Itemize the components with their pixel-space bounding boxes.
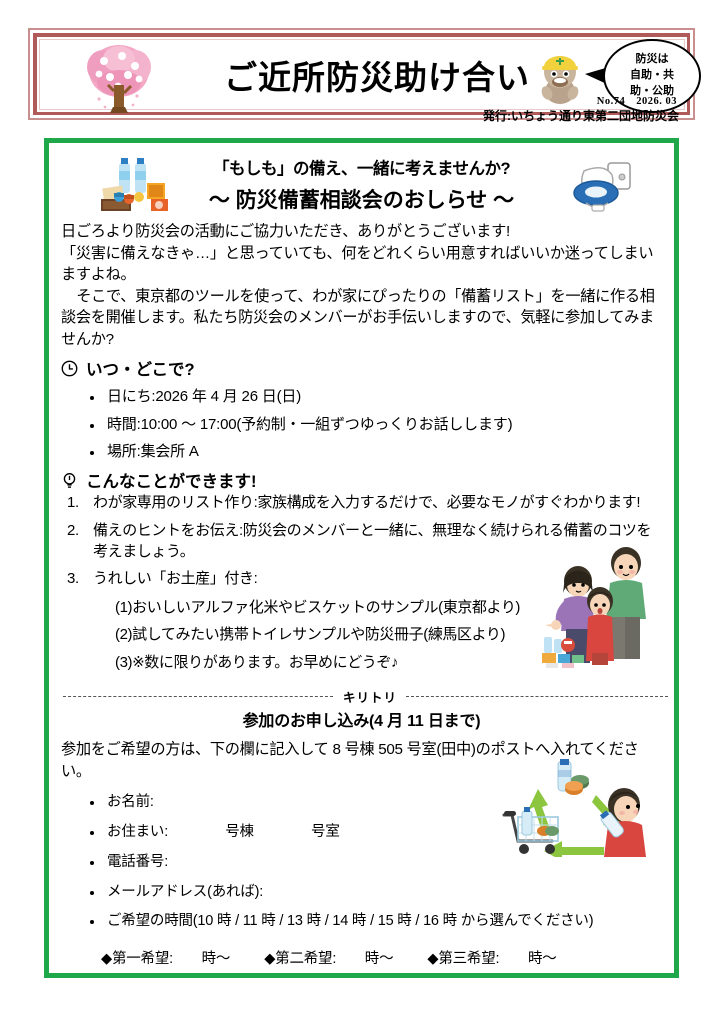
issue-number: No.74 2026. 03 (597, 93, 677, 108)
field-preferred-time[interactable]: ご希望の時間(10 時 / 11 時 / 13 時 / 14 時 / 15 時 … (87, 912, 662, 931)
lightbulb-icon (61, 472, 78, 489)
header-border-inner: ご近所防災助け合い 防災は 自助・共 助・公助 No.74 2026. 03 発… (33, 33, 690, 115)
can-do-heading-label: こんなことができます! (86, 468, 257, 492)
field-email[interactable]: メールアドレス(あれば): (87, 883, 662, 902)
application-title: 参加のお申し込み(4 月 11 日まで) (61, 707, 662, 731)
choice-third[interactable]: ◆第三希望: 時～ (427, 947, 556, 968)
when-where-heading: いつ・どこで? (61, 356, 662, 380)
bubble-line-2: 自助・共 (630, 68, 674, 84)
helmet-mascot-icon (529, 45, 591, 107)
can-do-heading: こんなことができます! (61, 468, 662, 492)
family-with-supplies-icon (542, 541, 660, 669)
cut-line-label: キリトリ (333, 687, 407, 706)
when-where-list: 日にち:2026 年 4 月 26 日(日) 時間:10:00 ～ 17:00(… (87, 387, 662, 462)
intro-paragraph: 日ごろより防災会の活動にご協力いただき、ありがとうございます! 「災害に備えなき… (61, 221, 662, 350)
choice-first[interactable]: ◆第一希望: 時～ (101, 947, 230, 968)
cut-line: キリトリ (61, 688, 662, 704)
intro-line-1: 日ごろより防災会の活動にご協力いただき、ありがとうございます! (61, 221, 662, 243)
headline-block: 「もしも」の備え、一緒に考えませんか? ～ 防災備蓄相談会のおしらせ ～ (61, 151, 662, 217)
item-number: 2. (67, 521, 79, 542)
list-item: 1. わが家専用のリスト作り:家族構成を入力するだけで、必要なモノがすぐわかりま… (67, 493, 662, 514)
when-where-heading-label: いつ・どこで? (86, 356, 195, 380)
time-choice-row: ◆第一希望: 時～ ◆第二希望: 時～ ◆第三希望: 時～ (101, 947, 662, 968)
item-text: わが家専用のリスト作り:家族構成を入力するだけで、必要なモノがすぐわかります! (93, 494, 640, 511)
list-item: 時間:10:00 ～ 17:00(予約制・一組ずつゆっくりお話しします) (87, 415, 662, 435)
bubble-line-1: 防災は (636, 52, 669, 68)
list-item: 日にち:2026 年 4 月 26 日(日) (87, 387, 662, 407)
newsletter-header: ご近所防災助け合い 防災は 自助・共 助・公助 No.74 2026. 03 発… (28, 28, 695, 120)
list-item: 場所:集会所 A (87, 442, 662, 462)
choice-second[interactable]: ◆第二希望: 時～ (264, 947, 393, 968)
page-title: ご近所防災助け合い (187, 51, 567, 99)
main-content-box: 「もしも」の備え、一緒に考えませんか? ～ 防災備蓄相談会のおしらせ ～ 日ごろ… (44, 138, 679, 978)
publisher-name: 発行:いちょう通り東第二団地防災会 (483, 107, 679, 124)
portable-toilet-icon (572, 159, 636, 213)
cut-line-dash-right (406, 696, 668, 697)
item-number: 3. (67, 569, 79, 590)
intro-line-3: そこで、東京都のツールを使って、わが家にぴったりの「備蓄リスト」を一緒に作る相談… (61, 286, 662, 351)
cherry-blossom-tree-icon (77, 41, 161, 121)
item-number: 1. (67, 493, 79, 514)
emergency-food-water-icon (99, 157, 171, 213)
clock-icon (61, 360, 78, 377)
cut-line-dash-left (63, 696, 333, 697)
intro-line-2: 「災害に備えなきゃ…」と思っていても、何をどれくらい用意すればいいか迷ってしまい… (61, 243, 662, 286)
rolling-stock-cycle-icon (500, 759, 650, 857)
item-text: うれしい「お土産」付き: (93, 570, 257, 587)
